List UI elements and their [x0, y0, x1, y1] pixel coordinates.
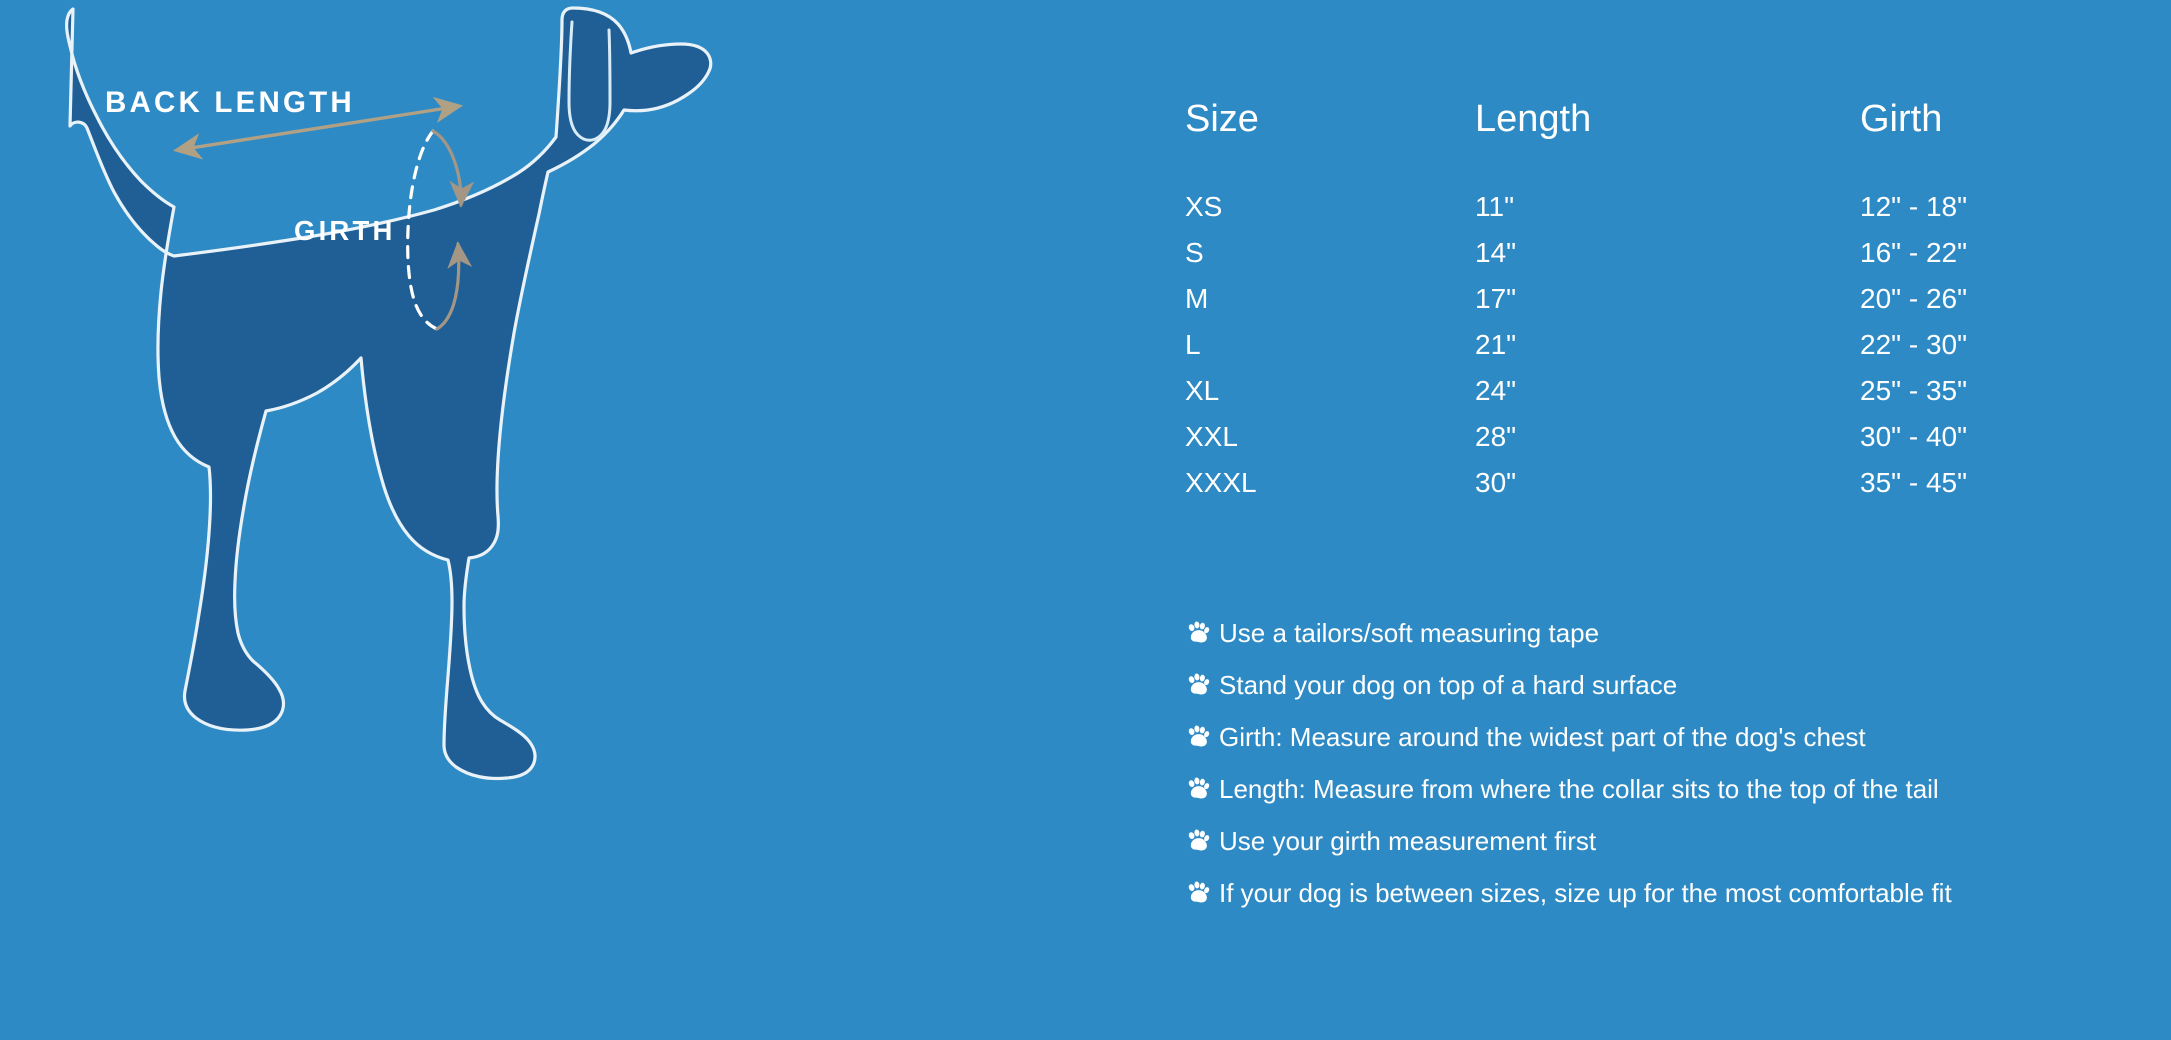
size-chart-panel: Size Length Girth XS 11" 12" - 18" S 14"… — [1185, 0, 2171, 1040]
measuring-tips-list: Use a tailors/soft measuring tape Stand … — [1185, 616, 2171, 928]
paw-print-icon — [1185, 724, 1211, 750]
list-item: Length: Measure from where the collar si… — [1185, 772, 2171, 806]
cell-length: 30" — [1475, 466, 1860, 512]
cell-length: 14" — [1475, 236, 1860, 282]
cell-girth: 25" - 35" — [1860, 374, 2085, 420]
tip-text: Stand your dog on top of a hard surface — [1219, 668, 1677, 702]
table-row: XS 11" 12" - 18" — [1185, 190, 2085, 236]
cell-size: XL — [1185, 374, 1475, 420]
cell-girth: 22" - 30" — [1860, 328, 2085, 374]
cell-size: M — [1185, 282, 1475, 328]
table-header-row: Size Length Girth — [1185, 96, 2085, 190]
table-row: XXXL 30" 35" - 45" — [1185, 466, 2085, 512]
paw-print-icon — [1185, 828, 1211, 854]
list-item: Girth: Measure around the widest part of… — [1185, 720, 2171, 754]
column-header-length: Length — [1475, 96, 1860, 190]
tip-text: Use your girth measurement first — [1219, 824, 1596, 858]
table-row: XL 24" 25" - 35" — [1185, 374, 2085, 420]
size-table-body: XS 11" 12" - 18" S 14" 16" - 22" M 17" 2… — [1185, 190, 2085, 512]
girth-label: GIRTH — [294, 215, 396, 246]
paw-print-icon — [1185, 672, 1211, 698]
paw-print-icon — [1185, 776, 1211, 802]
table-row: XXL 28" 30" - 40" — [1185, 420, 2085, 466]
table-row: M 17" 20" - 26" — [1185, 282, 2085, 328]
cell-girth: 16" - 22" — [1860, 236, 2085, 282]
tip-text: If your dog is between sizes, size up fo… — [1219, 876, 1952, 910]
list-item: If your dog is between sizes, size up fo… — [1185, 876, 2171, 910]
paw-print-icon — [1185, 880, 1211, 906]
table-row: S 14" 16" - 22" — [1185, 236, 2085, 282]
cell-length: 24" — [1475, 374, 1860, 420]
tip-text: Use a tailors/soft measuring tape — [1219, 616, 1599, 650]
cell-size: XS — [1185, 190, 1475, 236]
list-item: Stand your dog on top of a hard surface — [1185, 668, 2171, 702]
cell-size: XXL — [1185, 420, 1475, 466]
tip-text: Girth: Measure around the widest part of… — [1219, 720, 1866, 754]
cell-length: 11" — [1475, 190, 1860, 236]
list-item: Use your girth measurement first — [1185, 824, 2171, 858]
cell-size: XXXL — [1185, 466, 1475, 512]
cell-girth: 12" - 18" — [1860, 190, 2085, 236]
cell-girth: 35" - 45" — [1860, 466, 2085, 512]
dog-measurement-illustration: BACK LENGTH GIRTH — [0, 0, 1150, 1040]
cell-length: 28" — [1475, 420, 1860, 466]
column-header-girth: Girth — [1860, 96, 2085, 190]
paw-print-icon — [1185, 620, 1211, 646]
tip-text: Length: Measure from where the collar si… — [1219, 772, 1939, 806]
cell-length: 21" — [1475, 328, 1860, 374]
column-header-size: Size — [1185, 96, 1475, 190]
list-item: Use a tailors/soft measuring tape — [1185, 616, 2171, 650]
cell-girth: 20" - 26" — [1860, 282, 2085, 328]
cell-size: S — [1185, 236, 1475, 282]
table-row: L 21" 22" - 30" — [1185, 328, 2085, 374]
back-length-label: BACK LENGTH — [105, 86, 355, 119]
size-chart-page: BACK LENGTH GIRTH Size Length Girth XS 1… — [0, 0, 2171, 1040]
cell-length: 17" — [1475, 282, 1860, 328]
size-table: Size Length Girth XS 11" 12" - 18" S 14"… — [1185, 96, 2085, 512]
cell-size: L — [1185, 328, 1475, 374]
cell-girth: 30" - 40" — [1860, 420, 2085, 466]
